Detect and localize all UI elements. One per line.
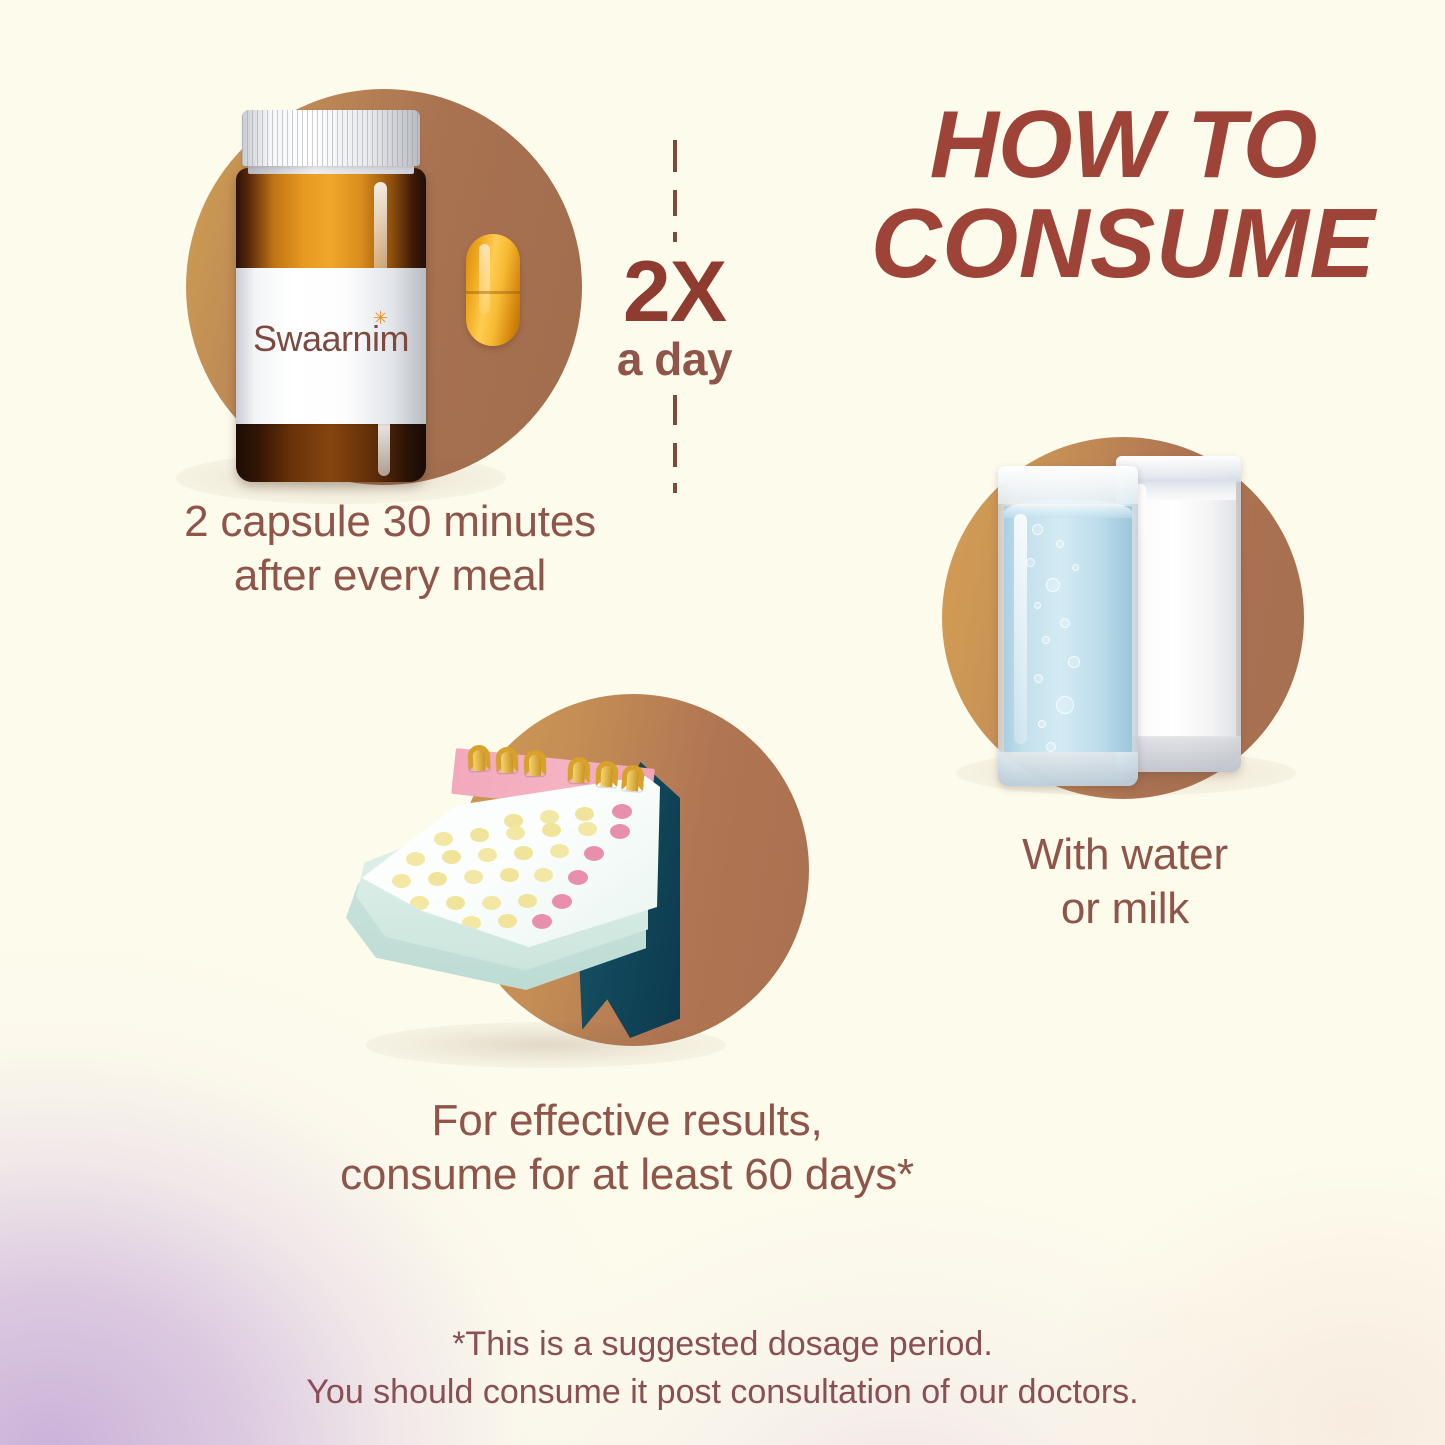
calendar-day-dot (428, 872, 447, 886)
water-bubble (1056, 540, 1064, 548)
calendar-day-dot (498, 914, 517, 928)
water-bubble (1072, 564, 1079, 571)
calendar-spiral-ring (524, 750, 546, 776)
page-title-line-2: CONSUME (838, 194, 1408, 294)
water-bubble (1038, 720, 1046, 728)
water-bubble (1060, 618, 1070, 628)
infographic-canvas: HOW TO CONSUME Swaarnim ✳ 2 capsule 30 m… (0, 0, 1445, 1445)
bottle-caption-line-1: 2 capsule 30 minutes (120, 495, 660, 549)
calendar-weekend-dot (584, 846, 604, 861)
calendar-weekend-dot (532, 914, 552, 929)
water-bubble (1026, 558, 1035, 567)
calendar-spiral-ring (467, 744, 490, 771)
water-bubble (1042, 636, 1050, 644)
page-title-line-1: HOW TO (838, 96, 1408, 194)
bottle-label: Swaarnim ✳ (236, 268, 426, 424)
capsule-icon (466, 234, 520, 346)
calendar-day-dot (575, 807, 594, 821)
calendar-day-dot (578, 822, 597, 836)
calendar-weekend-dot (552, 894, 572, 909)
calendar-day-dot (506, 826, 525, 840)
calendar-day-dot (434, 832, 453, 846)
calendar-weekend-dot (610, 824, 630, 839)
calendar-spiral-ring (595, 760, 618, 787)
calendar-day-dot (514, 846, 533, 860)
water-bubble (1046, 742, 1056, 752)
calendar-day-dot (542, 823, 561, 837)
calendar-day-dot (550, 844, 569, 858)
calendar-day-dot (478, 848, 497, 862)
calendar-spiral-ring (568, 757, 591, 784)
pill-bottle-icon: Swaarnim ✳ (228, 110, 433, 482)
dose-frequency-block: 2X a day (592, 140, 757, 499)
calendar-day-dot (406, 852, 425, 866)
footnote-line-1: *This is a suggested dosage period. (0, 1320, 1445, 1368)
calendar-weekend-dot (568, 870, 588, 885)
water-milk-glasses-icon (986, 448, 1296, 782)
dose-period-label: a day (592, 334, 757, 385)
glasses-caption-line-2: or milk (930, 882, 1320, 936)
calendar-day-dot (470, 828, 489, 842)
calendar-day-dot (500, 868, 519, 882)
bottle-cap (242, 110, 420, 166)
water-glass-gloss (1014, 514, 1027, 744)
calendar-day-dot (446, 896, 465, 910)
desk-calendar-icon (340, 740, 760, 1060)
dashed-divider-top-icon (673, 140, 677, 244)
capsule-seam (466, 291, 520, 294)
calendar-day-dot (392, 874, 411, 888)
capsule-gloss (479, 244, 490, 314)
bottle-caption-line-2: after every meal (120, 549, 660, 603)
water-bubble (1056, 696, 1074, 714)
calendar-day-dot (464, 870, 483, 884)
water-bubble (1034, 674, 1043, 683)
glasses-caption: With water or milk (930, 828, 1320, 935)
glasses-caption-line-1: With water (930, 828, 1320, 882)
dashed-divider-bottom-icon (673, 395, 677, 499)
water-bubble (1032, 524, 1043, 535)
brand-wordmark: Swaarnim (236, 318, 426, 360)
calendar-day-dot (442, 850, 461, 864)
bottle-caption: 2 capsule 30 minutes after every meal (120, 495, 660, 602)
footnote: *This is a suggested dosage period. You … (0, 1320, 1445, 1417)
bottle-lower-highlight (378, 418, 390, 476)
water-bubble (1034, 602, 1041, 609)
water-glass-rim (998, 466, 1138, 504)
calendar-day-dot (540, 810, 559, 824)
calendar-day-dot (518, 894, 537, 908)
water-glass (998, 466, 1138, 786)
calendar-day-dot (534, 868, 553, 882)
calendar-spiral-ring (621, 764, 645, 791)
calendar-spiral-ring (496, 747, 519, 774)
page-title: HOW TO CONSUME (838, 96, 1408, 294)
calendar-caption-line-1: For effective results, (262, 1094, 992, 1148)
water-bubble (1068, 656, 1080, 668)
star-icon: ✳ (373, 312, 386, 325)
water-bubble (1046, 578, 1060, 592)
dose-frequency-value: 2X (592, 250, 757, 334)
calendar-weekend-dot (612, 804, 632, 819)
calendar-caption: For effective results, consume for at le… (262, 1094, 992, 1201)
water-glass-base (998, 752, 1138, 786)
calendar-day-dot (482, 896, 501, 910)
calendar-caption-line-2: consume for at least 60 days* (262, 1148, 992, 1202)
footnote-line-2: You should consume it post consultation … (0, 1368, 1445, 1416)
